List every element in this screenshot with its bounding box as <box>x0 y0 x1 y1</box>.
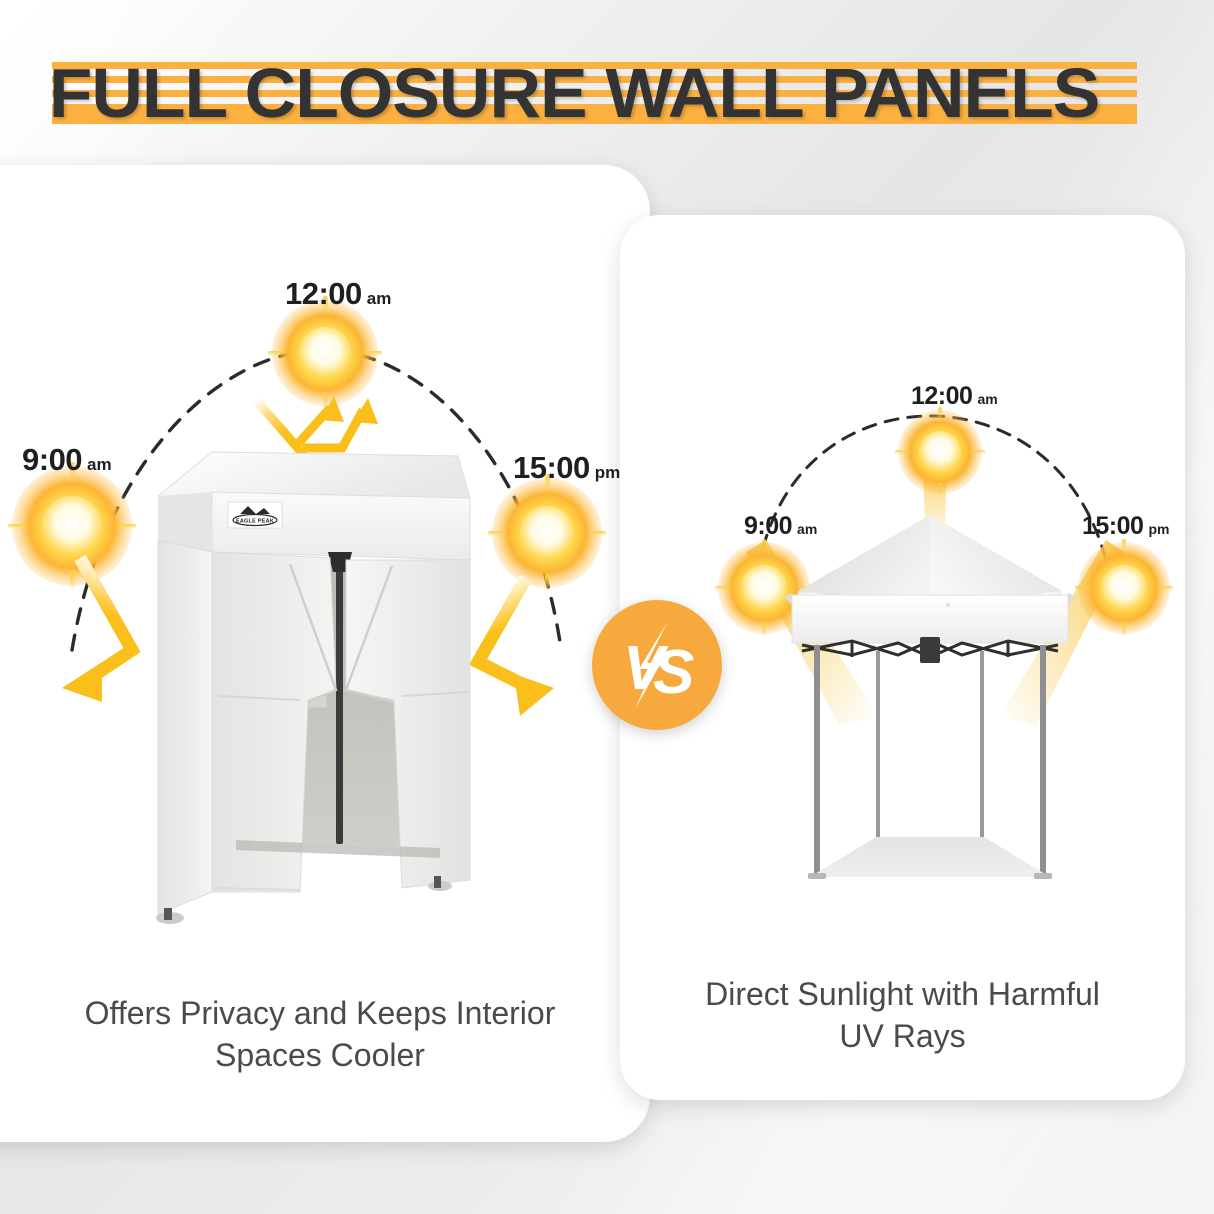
page-header: FULL CLOSURE WALL PANELS <box>0 34 1214 138</box>
right-caption-line-2: UV Rays <box>640 1015 1165 1057</box>
page-title: FULL CLOSURE WALL PANELS <box>49 58 1191 128</box>
right-caption-line-1: Direct Sunlight with Harmful <box>640 973 1165 1015</box>
sun-label-9am-left: 9:00am <box>22 442 112 478</box>
svg-text:S: S <box>653 638 694 707</box>
sun-label-12am-right: 12:00am <box>911 382 998 411</box>
svg-text:EAGLE PEAK: EAGLE PEAK <box>236 519 274 525</box>
product-image-full-closure-tent: EAGLE PEAK <box>140 440 510 930</box>
left-panel-caption: Offers Privacy and Keeps Interior Spaces… <box>20 992 620 1076</box>
product-image-open-canopy <box>780 505 1080 895</box>
left-caption-line-1: Offers Privacy and Keeps Interior <box>20 992 620 1034</box>
sun-label-15pm-right: 15:00pm <box>1082 512 1169 541</box>
vs-lightning-icon: V S <box>609 617 705 713</box>
sun-label-12am-left: 12:00am <box>285 276 391 312</box>
right-panel-caption: Direct Sunlight with Harmful UV Rays <box>640 973 1165 1057</box>
sun-label-15pm-left: 15:00pm <box>513 450 620 486</box>
left-caption-line-2: Spaces Cooler <box>20 1034 620 1076</box>
vs-badge: V S VS <box>592 600 722 730</box>
